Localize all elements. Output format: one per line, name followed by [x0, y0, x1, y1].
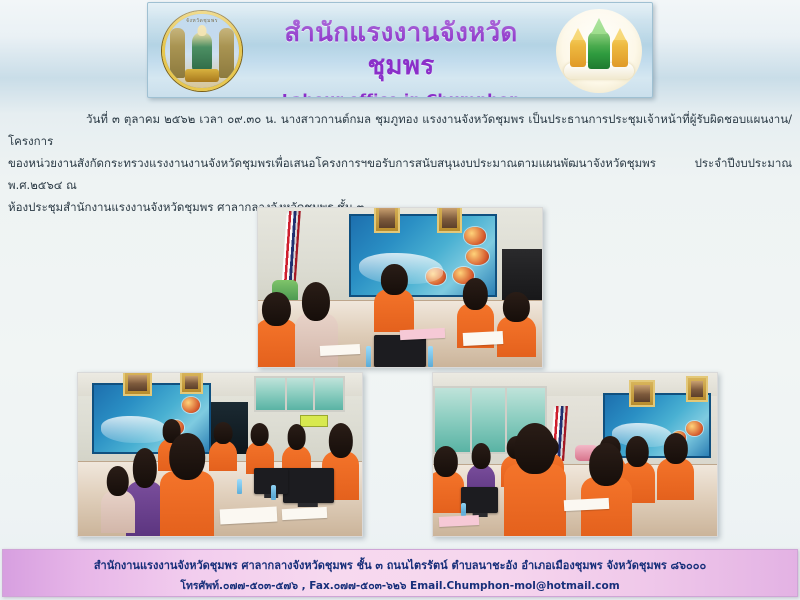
photo-meeting-room-chairperson[interactable]	[257, 207, 543, 368]
page-title-thai: สำนักแรงงานจังหวัดชุมพร	[258, 17, 544, 82]
footer-address: สำนักงานแรงงานจังหวัดชุมพร ศาลากลางจังหว…	[3, 557, 797, 575]
ministry-of-labour-emblem-icon	[556, 9, 642, 93]
seal-ring-label: จังหวัดชุมพร	[165, 17, 239, 25]
header-banner: จังหวัดชุมพร สำนักแรงงานจังหวัดชุมพร Lab…	[147, 2, 653, 98]
page-root: จังหวัดชุมพร สำนักแรงงานจังหวัดชุมพร Lab…	[0, 0, 800, 600]
article-body: วันที่ ๓ ตุลาคม ๒๕๖๒ เวลา ๐๙.๓๐ น. นางสา…	[8, 108, 792, 218]
page-title-english: Labour office in Chumphon Province	[258, 91, 544, 98]
chumphon-province-seal-icon: จังหวัดชุมพร	[162, 11, 242, 91]
footer-phone-email: โทรศัพท์.๐๗๗-๕๐๓-๕๗๖ , Fax.๐๗๗-๕๐๓-๖๒๖ E…	[3, 577, 797, 595]
photo-meeting-room-wide-right[interactable]	[432, 372, 718, 537]
header-title-block: สำนักแรงงานจังหวัดชุมพร Labour office in…	[258, 17, 544, 98]
footer-contact-bar: สำนักงานแรงงานจังหวัดชุมพร ศาลากลางจังหว…	[2, 549, 798, 597]
article-line-1: วันที่ ๓ ตุลาคม ๒๕๖๒ เวลา ๐๙.๓๐ น. นางสา…	[8, 108, 792, 152]
article-line-2: ของหน่วยงานสังกัดกระทรวงแรงงานงานจังหวัด…	[8, 152, 792, 196]
photo-meeting-room-wide-left[interactable]	[77, 372, 363, 537]
